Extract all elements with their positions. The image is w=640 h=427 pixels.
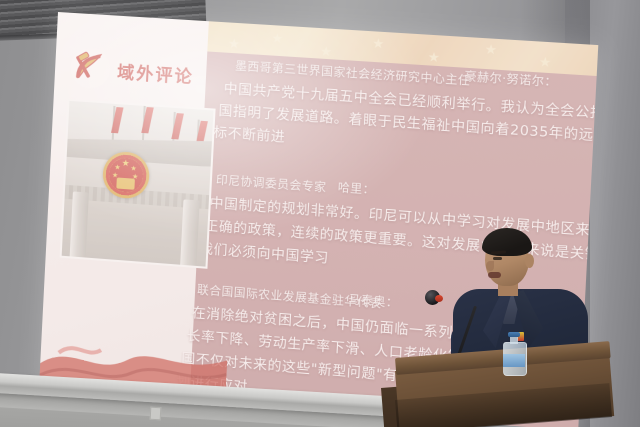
- hammer-sickle-emblem-icon: [68, 46, 112, 91]
- bottle-cap: [508, 332, 520, 337]
- star-decor-icon: ★: [427, 50, 440, 66]
- wall-outlet-icon: [150, 407, 162, 421]
- slide-photo-great-hall: ★ ★ ★ ★ ★: [60, 99, 216, 269]
- star-decor-icon: ★: [484, 42, 497, 58]
- tiananmen-gate-shape: [116, 177, 135, 189]
- star-decor-icon: ★: [271, 31, 284, 47]
- presenter-hair: [482, 228, 532, 256]
- photo-column: [180, 199, 200, 266]
- water-bottle-icon: [503, 332, 525, 374]
- microphone-windscreen: [435, 295, 443, 302]
- photo-column: [70, 191, 89, 257]
- presenter-ear: [525, 254, 534, 268]
- presenter-eye: [493, 257, 502, 260]
- star-decor-icon: ★: [372, 36, 385, 52]
- bottle-label: [503, 354, 525, 367]
- quote-2-speaker-name: 哈里：: [337, 179, 375, 198]
- screenshot-root: ★ ★ ★ ★ ★ ★ ★ 域外评论: [0, 0, 640, 427]
- star-decor-icon: ★: [539, 55, 552, 71]
- star-decor-icon: ★: [228, 37, 241, 53]
- presenter-mouth: [488, 272, 501, 278]
- slide-title: 域外评论: [117, 57, 195, 87]
- presenter-nose: [486, 261, 494, 271]
- slide-title-row: 域外评论: [68, 41, 222, 103]
